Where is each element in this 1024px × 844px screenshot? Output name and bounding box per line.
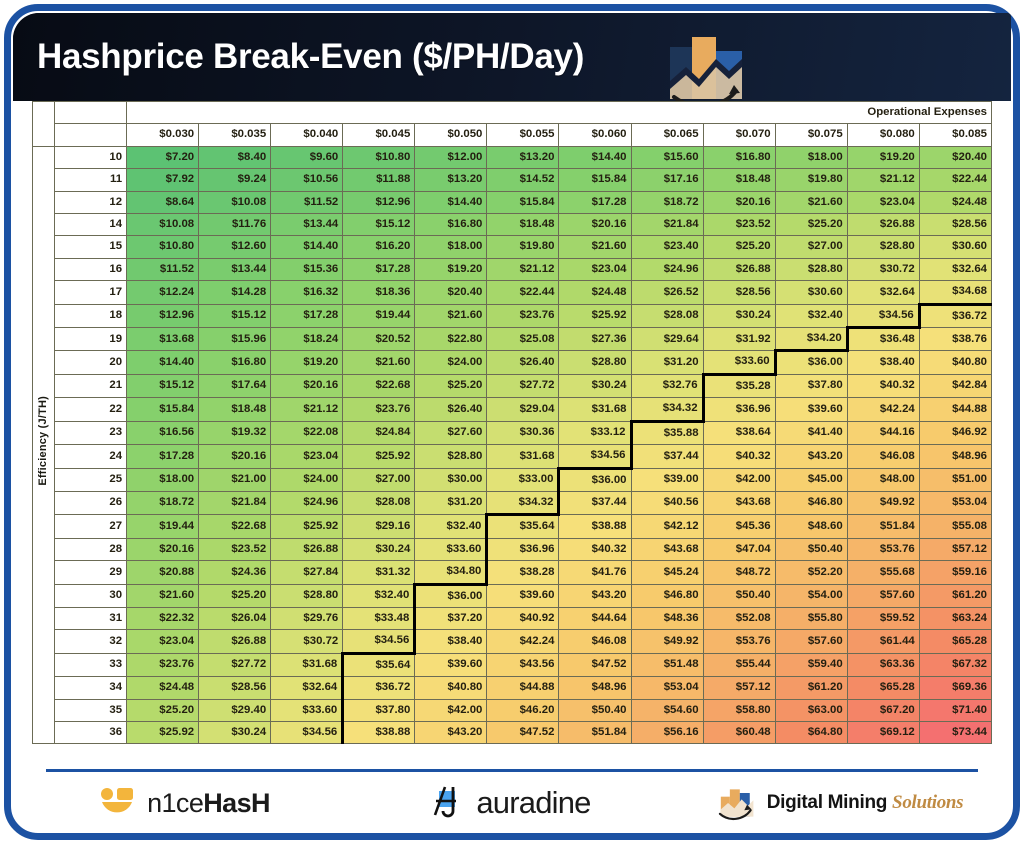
efficiency-row-header-20: 31 xyxy=(55,607,127,629)
heatmap-cell: $21.12 xyxy=(271,398,343,421)
heatmap-cell: $25.92 xyxy=(271,515,343,538)
table-row: 27$19.44$22.68$25.92$29.16$32.40$35.64$3… xyxy=(33,515,992,538)
heatmap-cell: $22.44 xyxy=(487,281,559,304)
rowhdr-blank xyxy=(55,124,127,146)
heatmap-cell: $15.36 xyxy=(271,258,343,280)
heatmap-cell: $25.92 xyxy=(343,445,415,468)
heatmap-cell: $36.96 xyxy=(487,538,559,560)
heatmap-cell: $30.24 xyxy=(343,538,415,560)
heatmap-cell: $44.88 xyxy=(919,398,991,421)
heatmap-cell: $29.76 xyxy=(271,607,343,629)
heatmap-cell: $19.80 xyxy=(775,169,847,191)
heatmap-cell: $43.20 xyxy=(775,445,847,468)
heatmap-cell: $35.64 xyxy=(343,653,415,676)
heatmap-cell: $27.60 xyxy=(415,421,487,444)
heatmap-cell: $14.40 xyxy=(559,146,631,168)
heatmap-cell: $46.92 xyxy=(919,421,991,444)
heatmap-cell: $71.40 xyxy=(919,699,991,721)
heatmap-cell: $12.24 xyxy=(127,281,199,304)
heatmap-cell: $36.00 xyxy=(559,468,631,491)
heatmap-cell: $19.32 xyxy=(199,421,271,444)
heatmap-cell: $43.68 xyxy=(703,491,775,514)
heatmap-cell: $46.20 xyxy=(487,699,559,721)
heatmap-cell: $52.20 xyxy=(775,561,847,584)
table-row: 34$24.48$28.56$32.64$36.72$40.80$44.88$4… xyxy=(33,677,992,699)
table-row: 20$14.40$16.80$19.20$21.60$24.00$26.40$2… xyxy=(33,351,992,374)
efficiency-row-header-16: 27 xyxy=(55,515,127,538)
heatmap-cell: $31.20 xyxy=(631,351,703,374)
heatmap-cell: $24.48 xyxy=(127,677,199,699)
heatmap-cell: $37.20 xyxy=(415,607,487,629)
heatmap-cell: $11.52 xyxy=(271,191,343,213)
heatmap-cell: $36.00 xyxy=(775,351,847,374)
heatmap-cell: $40.80 xyxy=(919,351,991,374)
opex-column-header-9: $0.075 xyxy=(775,124,847,146)
corner-blank-rowhdr xyxy=(55,102,127,124)
heatmap-cell: $24.48 xyxy=(559,281,631,304)
opex-column-header-5: $0.055 xyxy=(487,124,559,146)
heatmap-cell: $9.24 xyxy=(199,169,271,191)
heatmap-cell: $38.40 xyxy=(847,351,919,374)
heatmap-cell: $22.80 xyxy=(415,328,487,351)
table-row: 15$10.80$12.60$14.40$16.20$18.00$19.80$2… xyxy=(33,236,992,258)
efficiency-row-header-23: 34 xyxy=(55,677,127,699)
heatmap-cell: $13.20 xyxy=(487,146,559,168)
table-row: Efficiency (J/TH)10$7.20$8.40$9.60$10.80… xyxy=(33,146,992,168)
heatmap-cell: $42.24 xyxy=(487,630,559,653)
heatmap-cell: $10.08 xyxy=(199,191,271,213)
heatmap-cell: $18.00 xyxy=(127,468,199,491)
heatmap-cell: $23.04 xyxy=(127,630,199,653)
heatmap-cell: $26.88 xyxy=(847,214,919,236)
heatmap-cell: $45.24 xyxy=(631,561,703,584)
heatmap-cell: $30.00 xyxy=(415,468,487,491)
digital-mining-solutions-logo: Digital Mining Solutions xyxy=(676,784,1004,822)
heatmap-cell: $54.00 xyxy=(775,584,847,607)
table-row: 31$22.32$26.04$29.76$33.48$37.20$40.92$4… xyxy=(33,607,992,629)
heatmap-cell: $7.20 xyxy=(127,146,199,168)
heatmap-cell: $16.80 xyxy=(703,146,775,168)
heatmap-cell: $11.52 xyxy=(127,258,199,280)
heatmap-cell: $15.84 xyxy=(559,169,631,191)
heatmap-cell: $37.80 xyxy=(775,374,847,397)
heatmap-cell: $19.80 xyxy=(487,236,559,258)
auradine-logo: auradine xyxy=(348,785,676,821)
heatmap-cell: $49.92 xyxy=(631,630,703,653)
opex-column-header-3: $0.045 xyxy=(343,124,415,146)
efficiency-row-header-1: 11 xyxy=(55,169,127,191)
heatmap-cell: $30.24 xyxy=(703,304,775,327)
heatmap-cell: $34.20 xyxy=(775,328,847,351)
heatmap-cell: $25.92 xyxy=(559,304,631,327)
heatmap-cell: $52.08 xyxy=(703,607,775,629)
heatmap-cell: $34.68 xyxy=(919,281,991,304)
nicehash-wordmark-bold: HasH xyxy=(203,788,270,818)
heatmap-cell: $17.28 xyxy=(343,258,415,280)
heatmap-cell: $14.40 xyxy=(271,236,343,258)
heatmap-cell: $30.60 xyxy=(919,236,991,258)
heatmap-cell: $27.36 xyxy=(559,328,631,351)
efficiency-row-header-3: 14 xyxy=(55,214,127,236)
heatmap-cell: $16.32 xyxy=(271,281,343,304)
heatmap-cell: $21.12 xyxy=(847,169,919,191)
heatmap-cell: $13.20 xyxy=(415,169,487,191)
heatmap-cell: $40.92 xyxy=(487,607,559,629)
opex-column-header-11: $0.085 xyxy=(919,124,991,146)
heatmap-cell: $51.84 xyxy=(847,515,919,538)
heatmap-cell: $23.76 xyxy=(127,653,199,676)
heatmap-cell: $35.88 xyxy=(631,421,703,444)
table-row: 30$21.60$25.20$28.80$32.40$36.00$39.60$4… xyxy=(33,584,992,607)
heatmap-cell: $15.84 xyxy=(127,398,199,421)
table-row: 23$16.56$19.32$22.08$24.84$27.60$30.36$3… xyxy=(33,421,992,444)
heatmap-cell: $13.68 xyxy=(127,328,199,351)
table-row: 22$15.84$18.48$21.12$23.76$26.40$29.04$3… xyxy=(33,398,992,421)
heatmap-cell: $19.20 xyxy=(847,146,919,168)
efficiency-row-header-22: 33 xyxy=(55,653,127,676)
opex-column-header-4: $0.050 xyxy=(415,124,487,146)
heatmap-cell: $39.00 xyxy=(631,468,703,491)
heatmap-cell: $22.44 xyxy=(919,169,991,191)
heatmap-cell: $29.40 xyxy=(199,699,271,721)
heatmap-cell: $18.36 xyxy=(343,281,415,304)
heatmap-cell: $26.88 xyxy=(199,630,271,653)
auradine-wordmark: auradine xyxy=(476,785,590,821)
heatmap-cell: $33.48 xyxy=(343,607,415,629)
heatmap-cell: $24.48 xyxy=(919,191,991,213)
heatmap-cell: $32.64 xyxy=(271,677,343,699)
heatmap-cell: $43.68 xyxy=(631,538,703,560)
opex-column-header-0: $0.030 xyxy=(127,124,199,146)
heatmap-cell: $16.80 xyxy=(199,351,271,374)
heatmap-cell: $12.60 xyxy=(199,236,271,258)
heatmap-cell: $23.40 xyxy=(631,236,703,258)
heatmap-cell: $12.00 xyxy=(415,146,487,168)
heatmap-cell: $20.40 xyxy=(919,146,991,168)
efficiency-row-header-19: 30 xyxy=(55,584,127,607)
efficiency-row-header-14: 25 xyxy=(55,468,127,491)
heatmap-cell: $23.04 xyxy=(271,445,343,468)
heatmap-cell: $43.56 xyxy=(487,653,559,676)
heatmap-cell: $20.16 xyxy=(703,191,775,213)
heatmap-cell: $28.56 xyxy=(919,214,991,236)
heatmap-cell: $21.60 xyxy=(775,191,847,213)
heatmap-cell: $31.92 xyxy=(703,328,775,351)
table-row: 26$18.72$21.84$24.96$28.08$31.20$34.32$3… xyxy=(33,491,992,514)
heatmap-cell: $30.60 xyxy=(775,281,847,304)
heatmap-cell: $21.84 xyxy=(631,214,703,236)
heatmap-cell: $46.08 xyxy=(559,630,631,653)
heatmap-cell: $17.64 xyxy=(199,374,271,397)
heatmap-cell: $23.04 xyxy=(847,191,919,213)
heatmap-cell: $14.40 xyxy=(127,351,199,374)
heatmap-cell: $21.60 xyxy=(127,584,199,607)
page-title: Hashprice Break-Even ($/PH/Day) xyxy=(37,37,584,77)
efficiency-row-header-17: 28 xyxy=(55,538,127,560)
heatmap-cell: $23.52 xyxy=(199,538,271,560)
heatmap-cell: $10.56 xyxy=(271,169,343,191)
efficiency-row-header-11: 22 xyxy=(55,398,127,421)
heatmap-cell: $25.92 xyxy=(127,721,199,743)
heatmap-cell: $61.44 xyxy=(847,630,919,653)
efficiency-row-header-7: 18 xyxy=(55,304,127,327)
heatmap-cell: $41.76 xyxy=(559,561,631,584)
heatmap-cell: $31.68 xyxy=(487,445,559,468)
heatmap-cell: $48.72 xyxy=(703,561,775,584)
heatmap-cell: $38.64 xyxy=(703,421,775,444)
heatmap-cell: $39.60 xyxy=(415,653,487,676)
heatmap-cell: $44.88 xyxy=(487,677,559,699)
table-row: 16$11.52$13.44$15.36$17.28$19.20$21.12$2… xyxy=(33,258,992,280)
heatmap-cell: $27.72 xyxy=(199,653,271,676)
heatmap-cell: $35.64 xyxy=(487,515,559,538)
bar-chart-arrow-logo-icon xyxy=(664,33,756,101)
heatmap-cell: $53.04 xyxy=(919,491,991,514)
heatmap-cell: $15.84 xyxy=(487,191,559,213)
corner-blank-axis xyxy=(33,102,55,147)
title-banner: Hashprice Break-Even ($/PH/Day) xyxy=(13,13,1011,101)
nicehash-logo: n1ceHasH xyxy=(20,787,348,819)
heatmap-cell: $18.48 xyxy=(199,398,271,421)
heatmap-cell: $21.12 xyxy=(487,258,559,280)
heatmap-cell: $10.80 xyxy=(343,146,415,168)
slide-canvas: Hashprice Break-Even ($/PH/Day) Operatio… xyxy=(0,0,1024,844)
heatmap-cell: $30.24 xyxy=(199,721,271,743)
heatmap-cell: $33.60 xyxy=(703,351,775,374)
heatmap-cell: $23.52 xyxy=(703,214,775,236)
heatmap-cell: $46.80 xyxy=(775,491,847,514)
heatmap-cell: $56.16 xyxy=(631,721,703,743)
heatmap-cell: $67.20 xyxy=(847,699,919,721)
heatmap-cell: $61.20 xyxy=(775,677,847,699)
heatmap-cell: $65.28 xyxy=(847,677,919,699)
heatmap-cell: $15.96 xyxy=(199,328,271,351)
heatmap-cell: $19.44 xyxy=(343,304,415,327)
heatmap-cell: $23.76 xyxy=(343,398,415,421)
heatmap-cell: $55.44 xyxy=(703,653,775,676)
heatmap-cell: $64.80 xyxy=(775,721,847,743)
heatmap-cell: $24.00 xyxy=(415,351,487,374)
heatmap-cell: $32.40 xyxy=(415,515,487,538)
heatmap-cell: $15.12 xyxy=(343,214,415,236)
heatmap-cell: $55.80 xyxy=(775,607,847,629)
efficiency-row-header-12: 23 xyxy=(55,421,127,444)
dms-wordmark-italic: Solutions xyxy=(892,792,963,813)
heatmap-cell: $11.88 xyxy=(343,169,415,191)
heatmap-cell: $12.96 xyxy=(343,191,415,213)
table-row: 35$25.20$29.40$33.60$37.80$42.00$46.20$5… xyxy=(33,699,992,721)
heatmap-cell: $34.56 xyxy=(559,445,631,468)
heatmap-cell: $38.88 xyxy=(559,515,631,538)
heatmap-cell: $15.12 xyxy=(199,304,271,327)
heatmap-cell: $23.76 xyxy=(487,304,559,327)
footer-logo-strip: n1ceHasH auradine Digit xyxy=(20,772,1004,834)
opex-header-row: $0.030$0.035$0.040$0.045$0.050$0.055$0.0… xyxy=(33,124,992,146)
heatmap-cell: $28.80 xyxy=(415,445,487,468)
heatmap-cell: $18.00 xyxy=(775,146,847,168)
heatmap-cell: $30.36 xyxy=(487,421,559,444)
heatmap-cell: $15.60 xyxy=(631,146,703,168)
table-row: 33$23.76$27.72$31.68$35.64$39.60$43.56$4… xyxy=(33,653,992,676)
nicehash-wordmark: n1ceHasH xyxy=(147,788,270,819)
heatmap-cell: $63.24 xyxy=(919,607,991,629)
dms-wordmark-main: Digital Mining xyxy=(767,792,892,813)
heatmap-cell: $61.20 xyxy=(919,584,991,607)
heatmap-cell: $34.32 xyxy=(631,398,703,421)
heatmap-cell: $29.64 xyxy=(631,328,703,351)
heatmap-cell: $48.96 xyxy=(919,445,991,468)
heatmap-cell: $13.44 xyxy=(199,258,271,280)
opex-column-header-2: $0.040 xyxy=(271,124,343,146)
heatmap-cell: $15.12 xyxy=(127,374,199,397)
heatmap-cell: $27.00 xyxy=(343,468,415,491)
heatmap-cell: $59.16 xyxy=(919,561,991,584)
heatmap-cell: $19.20 xyxy=(271,351,343,374)
heatmap-cell: $19.20 xyxy=(415,258,487,280)
heatmap-cell: $36.96 xyxy=(703,398,775,421)
efficiency-row-header-24: 35 xyxy=(55,699,127,721)
heatmap-cell: $47.52 xyxy=(487,721,559,743)
heatmap-cell: $18.00 xyxy=(415,236,487,258)
heatmap-cell: $8.40 xyxy=(199,146,271,168)
opex-group-header: Operational Expenses xyxy=(127,102,992,124)
efficiency-row-header-2: 12 xyxy=(55,191,127,213)
heatmap-cell: $14.28 xyxy=(199,281,271,304)
efficiency-row-header-4: 15 xyxy=(55,236,127,258)
heatmap-cell: $50.40 xyxy=(703,584,775,607)
heatmap-cell: $20.52 xyxy=(343,328,415,351)
efficiency-row-header-5: 16 xyxy=(55,258,127,280)
heatmap-cell: $41.40 xyxy=(775,421,847,444)
heatmap-cell: $59.52 xyxy=(847,607,919,629)
heatmap-cell: $39.60 xyxy=(487,584,559,607)
heatmap-cell: $25.20 xyxy=(703,236,775,258)
heatmap-cell: $18.48 xyxy=(487,214,559,236)
efficiency-row-header-8: 19 xyxy=(55,328,127,351)
heatmap-cell: $47.52 xyxy=(559,653,631,676)
auradine-mark-icon xyxy=(433,785,467,821)
heatmap-cell: $43.20 xyxy=(415,721,487,743)
heatmap-cell: $32.76 xyxy=(631,374,703,397)
dms-logo-wrap: Digital Mining Solutions xyxy=(717,784,964,822)
heatmap-cell: $57.12 xyxy=(703,677,775,699)
heatmap-cell: $28.08 xyxy=(631,304,703,327)
heatmap-cell: $46.08 xyxy=(847,445,919,468)
hashprice-breakeven-table: Operational Expenses $0.030$0.035$0.040$… xyxy=(32,101,992,744)
heatmap-table-container: Operational Expenses $0.030$0.035$0.040$… xyxy=(20,101,1004,767)
opex-column-header-10: $0.080 xyxy=(847,124,919,146)
table-row: 25$18.00$21.00$24.00$27.00$30.00$33.00$3… xyxy=(33,468,992,491)
heatmap-cell: $51.48 xyxy=(631,653,703,676)
heatmap-cell: $48.96 xyxy=(559,677,631,699)
heatmap-cell: $24.84 xyxy=(343,421,415,444)
heatmap-cell: $14.52 xyxy=(487,169,559,191)
heatmap-cell: $22.08 xyxy=(271,421,343,444)
heatmap-cell: $45.36 xyxy=(703,515,775,538)
heatmap-cell: $57.12 xyxy=(919,538,991,560)
heatmap-cell: $25.20 xyxy=(775,214,847,236)
heatmap-cell: $53.04 xyxy=(631,677,703,699)
table-row: 17$12.24$14.28$16.32$18.36$20.40$22.44$2… xyxy=(33,281,992,304)
table-row: 19$13.68$15.96$18.24$20.52$22.80$25.08$2… xyxy=(33,328,992,351)
heatmap-cell: $26.88 xyxy=(703,258,775,280)
efficiency-row-header-10: 21 xyxy=(55,374,127,397)
heatmap-cell: $44.64 xyxy=(559,607,631,629)
heatmap-cell: $40.32 xyxy=(847,374,919,397)
heatmap-cell: $31.32 xyxy=(343,561,415,584)
dms-wordmark: Digital Mining Solutions xyxy=(767,792,964,814)
efficiency-row-header-21: 32 xyxy=(55,630,127,653)
heatmap-cell: $69.12 xyxy=(847,721,919,743)
heatmap-cell: $24.96 xyxy=(631,258,703,280)
heatmap-cell: $49.92 xyxy=(847,491,919,514)
heatmap-cell: $40.32 xyxy=(559,538,631,560)
heatmap-cell: $32.64 xyxy=(847,281,919,304)
heatmap-cell: $20.40 xyxy=(415,281,487,304)
heatmap-cell: $54.60 xyxy=(631,699,703,721)
efficiency-row-header-13: 24 xyxy=(55,445,127,468)
heatmap-cell: $36.72 xyxy=(919,304,991,327)
heatmap-cell: $47.04 xyxy=(703,538,775,560)
efficiency-axis-label: Efficiency (J/TH) xyxy=(33,146,55,744)
heatmap-cell: $33.60 xyxy=(271,699,343,721)
heatmap-cell: $33.12 xyxy=(559,421,631,444)
heatmap-cell: $16.56 xyxy=(127,421,199,444)
table-row: 32$23.04$26.88$30.72$34.56$38.40$42.24$4… xyxy=(33,630,992,653)
heatmap-cell: $40.32 xyxy=(703,445,775,468)
heatmap-cell: $17.28 xyxy=(271,304,343,327)
heatmap-cell: $32.64 xyxy=(919,258,991,280)
heatmap-cell: $24.96 xyxy=(271,491,343,514)
heatmap-cell: $51.00 xyxy=(919,468,991,491)
heatmap-cell: $51.84 xyxy=(559,721,631,743)
heatmap-cell: $20.16 xyxy=(127,538,199,560)
heatmap-cell: $38.28 xyxy=(487,561,559,584)
table-row: 11$7.92$9.24$10.56$11.88$13.20$14.52$15.… xyxy=(33,169,992,191)
heatmap-cell: $10.80 xyxy=(127,236,199,258)
heatmap-cell: $35.28 xyxy=(703,374,775,397)
heatmap-cell: $27.00 xyxy=(775,236,847,258)
heatmap-cell: $9.60 xyxy=(271,146,343,168)
heatmap-cell: $29.16 xyxy=(343,515,415,538)
heatmap-cell: $28.80 xyxy=(847,236,919,258)
heatmap-cell: $25.20 xyxy=(199,584,271,607)
heatmap-cell: $18.72 xyxy=(127,491,199,514)
heatmap-cell: $57.60 xyxy=(847,584,919,607)
heatmap-cell: $24.00 xyxy=(271,468,343,491)
heatmap-cell: $31.20 xyxy=(415,491,487,514)
heatmap-cell: $63.36 xyxy=(847,653,919,676)
heatmap-cell: $26.88 xyxy=(271,538,343,560)
heatmap-cell: $34.56 xyxy=(271,721,343,743)
heatmap-cell: $37.44 xyxy=(559,491,631,514)
heatmap-cell: $28.80 xyxy=(775,258,847,280)
heatmap-cell: $58.80 xyxy=(703,699,775,721)
heatmap-cell: $55.08 xyxy=(919,515,991,538)
heatmap-cell: $26.52 xyxy=(631,281,703,304)
heatmap-cell: $73.44 xyxy=(919,721,991,743)
heatmap-cell: $21.60 xyxy=(343,351,415,374)
heatmap-cell: $18.24 xyxy=(271,328,343,351)
heatmap-cell: $19.44 xyxy=(127,515,199,538)
heatmap-cell: $17.28 xyxy=(127,445,199,468)
heatmap-cell: $20.16 xyxy=(559,214,631,236)
heatmap-cell: $42.12 xyxy=(631,515,703,538)
table-row: 36$25.92$30.24$34.56$38.88$43.20$47.52$5… xyxy=(33,721,992,743)
heatmap-cell: $43.20 xyxy=(559,584,631,607)
heatmap-cell: $50.40 xyxy=(775,538,847,560)
heatmap-cell: $34.56 xyxy=(343,630,415,653)
